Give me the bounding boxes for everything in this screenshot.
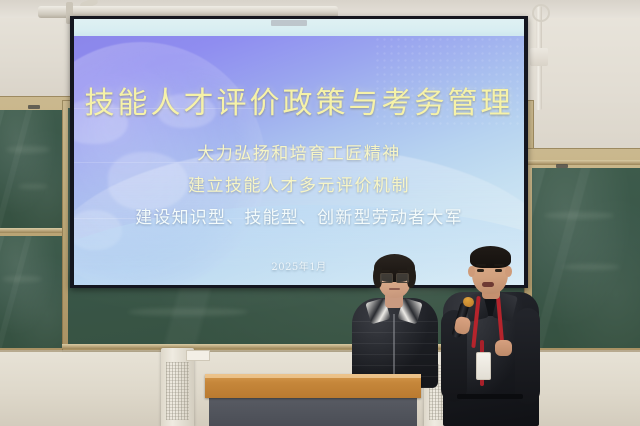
man-belt [457,394,523,399]
podium-top-highlight [205,374,421,378]
blackboard-left-rail [0,228,66,233]
man-ear-right [505,266,512,277]
slide-subtitle-1: 大力弘扬和培育工匠精神 [74,139,524,164]
man-hand-gesturing [495,340,512,356]
man-arm-right [515,308,540,404]
podium-body [209,398,417,426]
man-mouth [482,282,494,287]
blackboard-left-clip [28,105,40,109]
projection-screen-label [271,20,307,26]
slide-title: 技能人才评价政策与考务管理 [74,78,524,122]
wall-conduit-junction-box [530,48,548,66]
man-ear-left [468,266,475,277]
blackboard-left-panel-lower [0,236,64,348]
slide-subtitle-3: 建设知识型、技能型、创新型劳动者大军 [74,203,524,228]
presentation-slide: 技能人才评价政策与考务管理 大力弘扬和培育工匠精神 建立技能人才多元评价机制 建… [74,36,524,285]
man-id-badge [476,352,491,380]
blackboard-right-face [532,168,640,348]
blackboard-right-clip [556,164,568,168]
slide-date: 2025年1月 [74,258,524,273]
slide-subtitle-2: 建立技能人才多元评价机制 [74,171,524,196]
blackboard-left-panel-upper [0,110,64,228]
speaker-cabinet-left-tag [186,350,210,361]
woman-mouth [389,288,400,290]
blackboard-right-rail [524,160,640,165]
classroom-photo: 技能人才评价政策与考务管理 大力弘扬和培育工匠精神 建立技能人才多元评价机制 建… [0,0,640,426]
woman-glasses-icon [380,273,409,281]
ceiling-hook-icon [532,4,550,22]
